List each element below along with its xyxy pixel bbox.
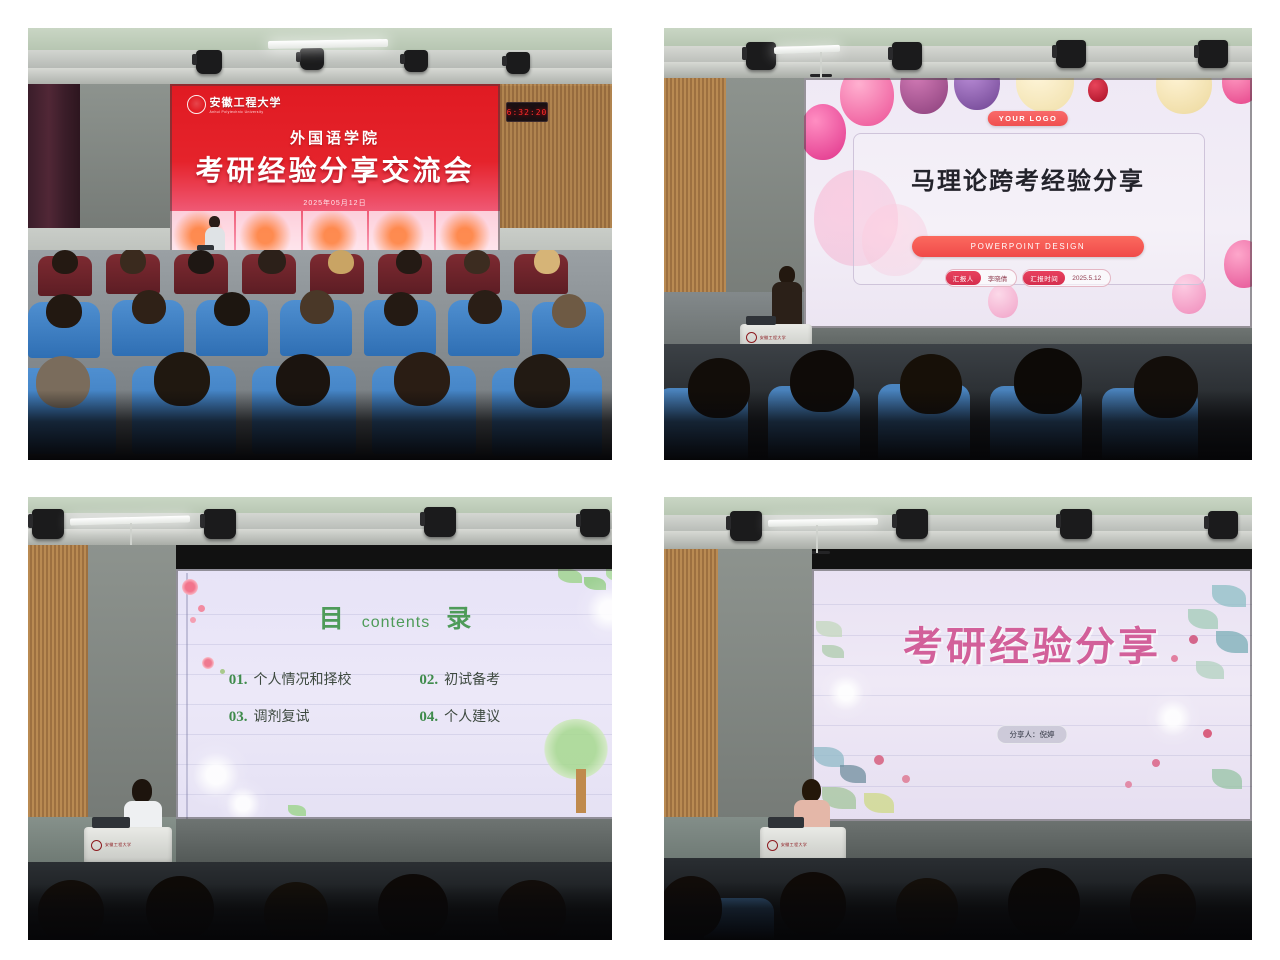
ceiling-spotlight-icon xyxy=(424,507,456,537)
projection-screen-balloon: YOUR LOGO 马理论跨考经验分享 POWERPOINT DESIGN 汇报… xyxy=(804,78,1252,328)
ceiling-spotlight-icon xyxy=(196,50,222,74)
projection-screen-floral: 考研经验分享 分享人：倪婷 xyxy=(812,569,1252,821)
ceiling-spotlight-icon xyxy=(730,511,762,541)
wood-wall-panel xyxy=(664,78,726,292)
ceiling-spotlight-icon xyxy=(896,509,928,539)
ceiling-spotlight-icon xyxy=(1198,40,1228,68)
ceiling-spotlight-icon xyxy=(204,509,236,539)
digital-clock: 6:32:20 xyxy=(506,102,548,122)
ceiling-spotlight-icon xyxy=(1056,40,1086,68)
ceiling-spotlight-icon xyxy=(1060,509,1092,539)
ceiling-spotlight-icon xyxy=(404,50,428,72)
stage-curtain xyxy=(28,84,80,234)
projection-screen-contents: 目 contents 录 01. 个人情况和择校 02. 初试备考 03. 调剂… xyxy=(176,569,612,819)
photo-top-right: YOUR LOGO 马理论跨考经验分享 POWERPOINT DESIGN 汇报… xyxy=(664,28,1252,460)
photo-top-left: 6:32:20 安徽工程大学 Anhui Polytechnic Univers… xyxy=(28,28,612,460)
photo-bottom-right: 考研经验分享 分享人：倪婷 安徽工程大学 xyxy=(664,497,1252,940)
wood-wall-panel xyxy=(664,549,718,817)
photo-collage: 6:32:20 安徽工程大学 Anhui Polytechnic Univers… xyxy=(0,0,1280,960)
clock-value: 6:32:20 xyxy=(507,108,548,117)
ceiling-spotlight-icon xyxy=(1208,511,1238,539)
ceiling-spotlight-icon xyxy=(746,42,776,70)
ceiling-spotlight-icon xyxy=(506,52,530,74)
ceiling-spotlight-icon xyxy=(892,42,922,70)
ceiling-spotlight-icon xyxy=(300,48,324,70)
photo-bottom-left: 目 contents 录 01. 个人情况和择校 02. 初试备考 03. 调剂… xyxy=(28,497,612,940)
speaker xyxy=(772,266,802,330)
wood-wall-panel xyxy=(28,545,88,817)
ceiling-spotlight-icon xyxy=(32,509,64,539)
ceiling-spotlight-icon xyxy=(580,509,610,537)
